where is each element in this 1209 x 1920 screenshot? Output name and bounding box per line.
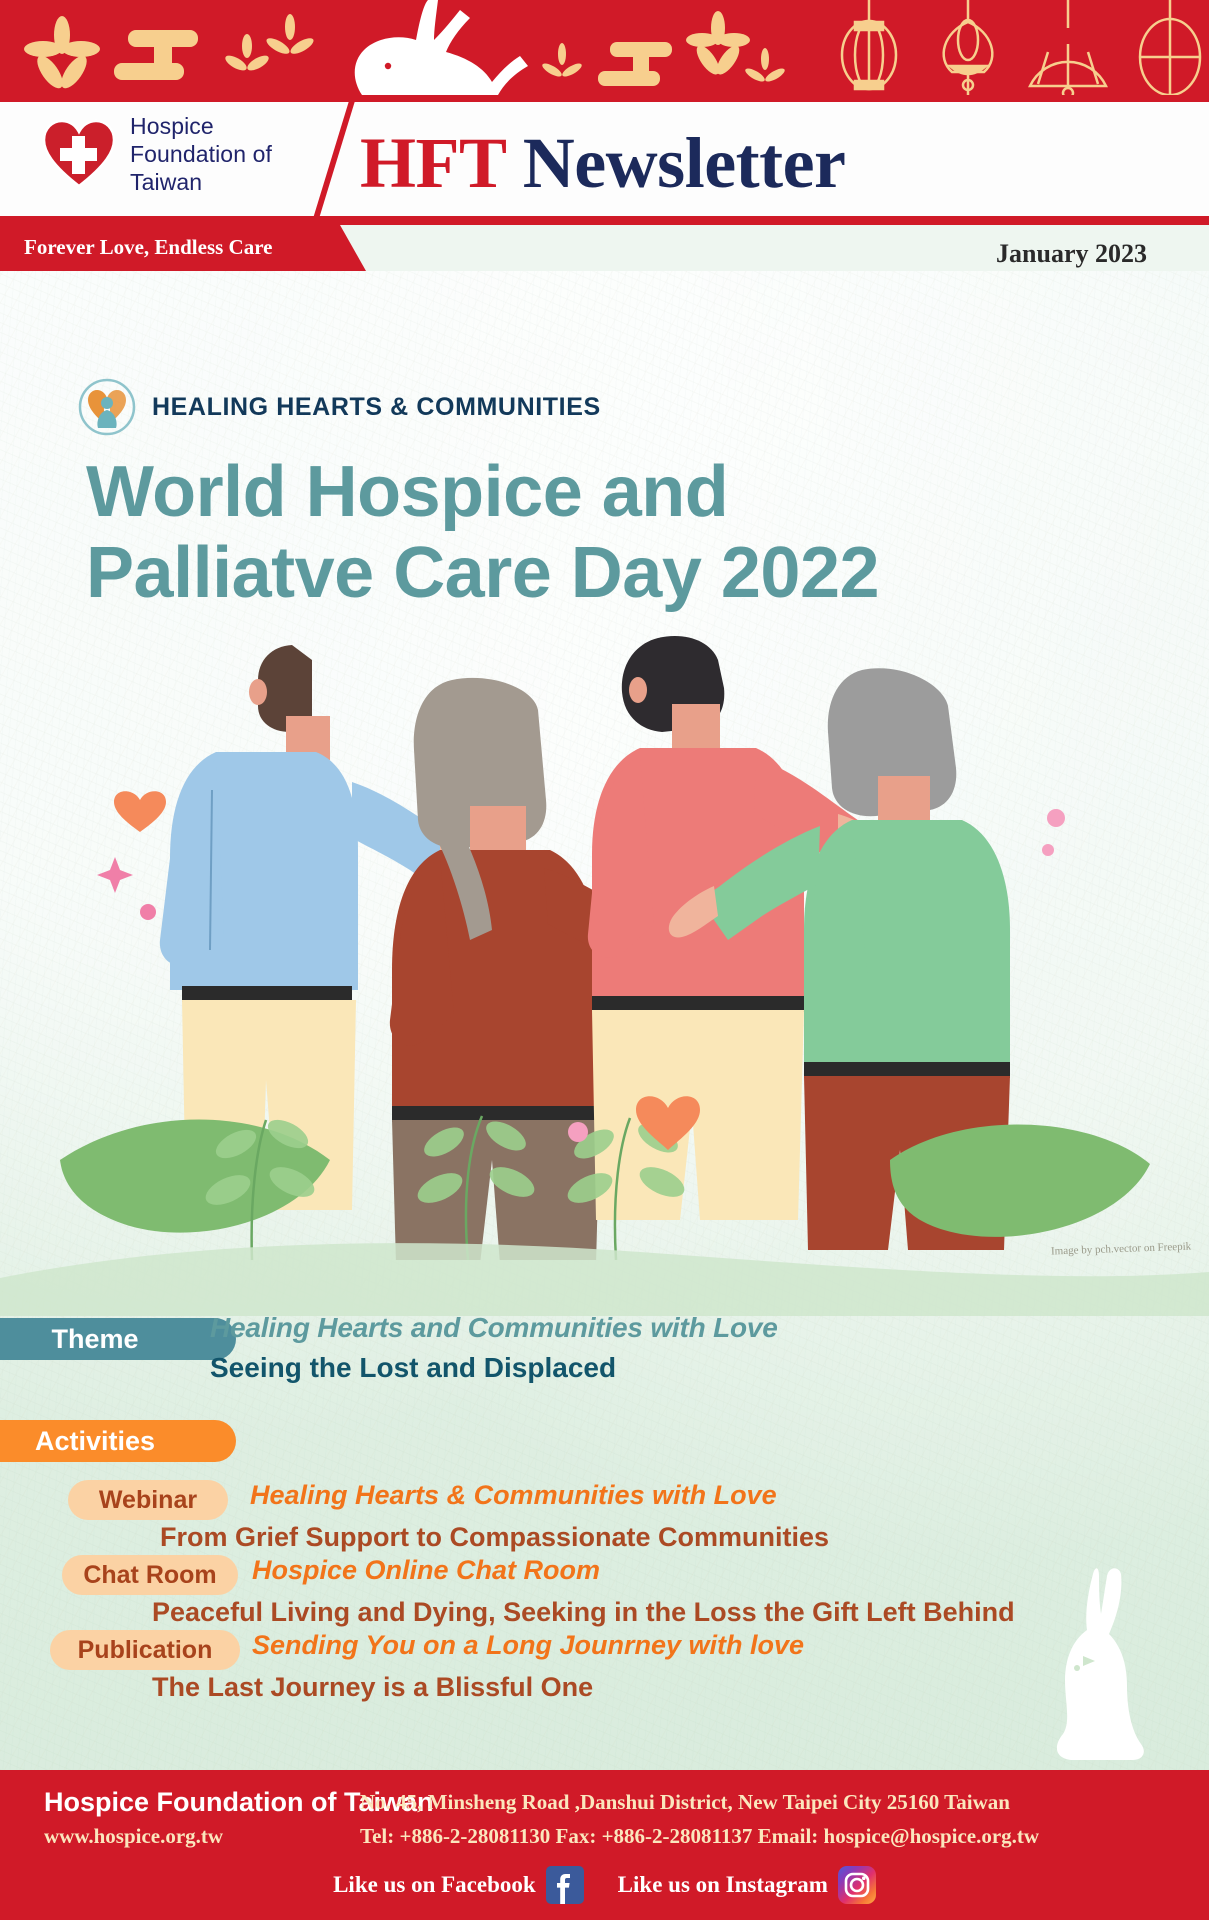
- lantern-icon: [842, 0, 896, 89]
- blossom-small-icon: [540, 43, 583, 79]
- org-line-3: Taiwan: [130, 168, 272, 196]
- org-line-1: Hospice: [130, 112, 272, 140]
- cloud-motif-icon: [598, 42, 672, 86]
- social-links-row: Like us on Facebook Like us on Instagram: [0, 1866, 1209, 1904]
- instagram-icon[interactable]: [838, 1866, 876, 1904]
- blossom-small-icon: [223, 34, 271, 73]
- activity-title-chat-room: Hospice Online Chat Room: [252, 1555, 600, 1586]
- org-line-2: Foundation of: [130, 140, 272, 168]
- newsletter-title-hft: HFT: [360, 123, 505, 203]
- organization-name: Hospice Foundation of Taiwan: [130, 112, 272, 196]
- activity-badge-publication: Publication: [50, 1630, 240, 1670]
- newsletter-title: HFT Newsletter: [360, 122, 846, 205]
- newsletter-title-word: Newsletter: [523, 123, 846, 203]
- instagram-link[interactable]: Like us on Instagram: [618, 1866, 876, 1904]
- footer-address: No. 45, Minsheng Road ,Danshui District,…: [360, 1790, 1010, 1815]
- medallion-icon: [1140, 0, 1200, 95]
- cny-decoration-svg: [0, 0, 1209, 95]
- organization-logo[interactable]: Hospice Foundation of Taiwan: [42, 112, 272, 196]
- footer-website[interactable]: www.hospice.org.tw: [44, 1824, 223, 1849]
- heart-cross-logo-icon: [42, 119, 116, 189]
- article-kicker-row: HEALING HEARTS & COMMUNITIES: [78, 378, 601, 436]
- facebook-icon[interactable]: [546, 1866, 584, 1904]
- page-footer: Hospice Foundation of Taiwan www.hospice…: [0, 1770, 1209, 1920]
- activity-title-publication: Sending You on a Long Jounrney with love: [252, 1630, 804, 1661]
- activity-title-webinar: Healing Hearts & Communities with Love: [250, 1480, 777, 1511]
- theme-subtitle: Seeing the Lost and Displaced: [210, 1352, 616, 1384]
- hill-divider: [0, 1236, 1209, 1316]
- cherry-blossom-icon: [24, 16, 100, 92]
- activity-subtitle-chat-room: Peaceful Living and Dying, Seeking in th…: [152, 1597, 1015, 1628]
- article-kicker-label: HEALING HEARTS & COMMUNITIES: [152, 393, 601, 422]
- diagonal-divider: [311, 100, 356, 226]
- cherry-blossom-icon: [686, 11, 750, 78]
- hero-illustration: [0, 520, 1209, 1260]
- facebook-label: Like us on Facebook: [333, 1872, 536, 1898]
- cloud-motif-icon: [114, 30, 198, 80]
- activities-badge: Activities: [0, 1420, 236, 1462]
- theme-title: Healing Hearts and Communities with Love: [210, 1312, 778, 1344]
- rabbit-icon: [355, 0, 528, 95]
- footer-contact: Tel: +886-2-28081130 Fax: +886-2-2808113…: [360, 1824, 1039, 1849]
- activity-badge-chat-room: Chat Room: [62, 1555, 238, 1595]
- activity-badge-webinar: Webinar: [68, 1480, 228, 1520]
- blossom-small-icon: [743, 48, 786, 84]
- rabbit-silhouette-icon: [1047, 1568, 1165, 1768]
- masthead: Hospice Foundation of Taiwan HFT Newslet…: [0, 95, 1209, 225]
- theme-badge: Theme: [0, 1318, 236, 1360]
- lotus-lantern-icon: [944, 0, 993, 95]
- issue-date: January 2023: [996, 239, 1147, 269]
- blossom-small-icon: [264, 14, 316, 57]
- fan-icon: [1030, 0, 1106, 95]
- chinese-new-year-banner: [0, 0, 1209, 95]
- instagram-label: Like us on Instagram: [618, 1872, 828, 1898]
- newsletter-page: Hospice Foundation of Taiwan HFT Newslet…: [0, 0, 1209, 1920]
- activity-subtitle-publication: The Last Journey is a Blissful One: [152, 1672, 593, 1703]
- activity-subtitle-webinar: From Grief Support to Compassionate Comm…: [160, 1522, 829, 1553]
- facebook-link[interactable]: Like us on Facebook: [333, 1866, 584, 1904]
- heart-person-logo-icon: [78, 378, 136, 436]
- tagline-text: Forever Love, Endless Care: [24, 235, 272, 260]
